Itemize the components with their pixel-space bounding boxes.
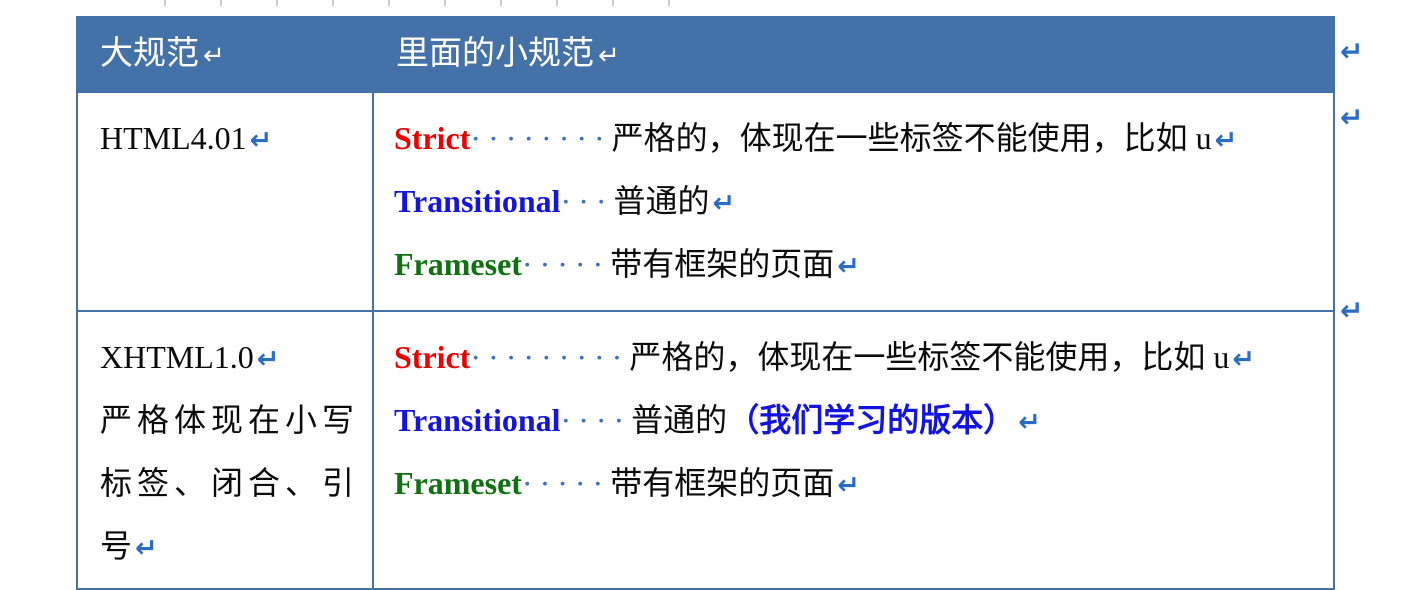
row-end-mark-icon: ↵ [1340, 38, 1363, 66]
spec-name-block: XHTML1.0↵ 严格体现在小写标签、闭合、引号↵ [78, 312, 372, 588]
sub-spec-line-strict: Strict········严格的，体现在一些标签不能使用，比如 u↵ [394, 107, 1323, 170]
header-label-minor: 里面的小规范↵ [374, 18, 1333, 91]
spec-name-block: HTML4.01↵ [78, 93, 372, 180]
sub-spec-description: 带有框架的页面 [610, 465, 834, 501]
sub-spec-highlight: （我们学习的版本） [727, 402, 1015, 438]
dot-leader: ········· [470, 339, 629, 375]
sub-spec-block: Strict········严格的，体现在一些标签不能使用，比如 u↵ Tran… [374, 93, 1333, 310]
document-page: ｜｜｜｜｜｜｜｜｜｜ 大规范↵ 里面的小规范↵ HTML4.01↵ [0, 0, 1406, 560]
dot-leader: ····· [522, 246, 610, 282]
spec-name-line: HTML4.01↵ [100, 107, 354, 170]
return-mark-icon: ↵ [1015, 407, 1041, 437]
header-text-major: 大规范 [100, 36, 199, 72]
sub-spec-description: 严格的，体现在一些标签不能使用，比如 u [612, 120, 1212, 156]
header-label-major: 大规范↵ [78, 18, 372, 91]
sub-spec-description: 严格的，体现在一些标签不能使用，比如 u [629, 339, 1229, 375]
return-mark-icon: ↵ [1229, 344, 1255, 374]
cell-spec-name-html4: HTML4.01↵ [77, 92, 373, 311]
spec-name-text: HTML4.01 [100, 120, 247, 156]
cut-off-text-above: ｜｜｜｜｜｜｜｜｜｜ [150, 0, 1300, 6]
return-mark-icon: ↵ [199, 40, 225, 70]
header-cell-minor-spec: 里面的小规范↵ [373, 17, 1334, 92]
return-mark-icon: ↵ [254, 344, 280, 374]
row-end-mark-icon: ↵ [1340, 104, 1363, 132]
return-mark-icon: ↵ [834, 470, 860, 500]
cell-sub-specs-xhtml1: Strict·········严格的，体现在一些标签不能使用，比如 u↵ Tra… [373, 311, 1334, 589]
sub-spec-description: 普通的 [631, 402, 727, 438]
return-mark-icon: ↵ [1212, 125, 1238, 155]
table-row: XHTML1.0↵ 严格体现在小写标签、闭合、引号↵ Strict·······… [77, 311, 1334, 589]
header-text-minor: 里面的小规范 [396, 36, 594, 72]
sub-spec-line-frameset: Frameset·····带有框架的页面↵ [394, 452, 1323, 515]
keyword-transitional: Transitional [394, 402, 561, 438]
table-header-row: 大规范↵ 里面的小规范↵ [77, 17, 1334, 92]
dot-leader: ···· [561, 402, 632, 438]
cell-spec-name-xhtml1: XHTML1.0↵ 严格体现在小写标签、闭合、引号↵ [77, 311, 373, 589]
header-cell-major-spec: 大规范↵ [77, 17, 373, 92]
keyword-frameset: Frameset [394, 246, 522, 282]
dot-leader: ····· [522, 465, 610, 501]
keyword-transitional: Transitional [394, 183, 561, 219]
spec-note-line: 严格体现在小写标签、闭合、引号↵ [100, 389, 354, 578]
sub-spec-description: 带有框架的页面 [610, 246, 834, 282]
keyword-frameset: Frameset [394, 465, 522, 501]
return-mark-icon: ↵ [132, 533, 158, 563]
spec-name-text: XHTML1.0 [100, 339, 254, 375]
dot-leader: ········ [470, 120, 611, 156]
specification-table: 大规范↵ 里面的小规范↵ HTML4.01↵ Strict········严格的… [76, 16, 1335, 590]
keyword-strict: Strict [394, 339, 470, 375]
return-mark-icon: ↵ [247, 125, 273, 155]
spec-name-line: XHTML1.0↵ [100, 326, 354, 389]
sub-spec-description: 普通的 [614, 183, 710, 219]
sub-spec-line-transitional: Transitional···普通的↵ [394, 170, 1323, 233]
return-mark-icon: ↵ [710, 188, 736, 218]
cell-sub-specs-html4: Strict········严格的，体现在一些标签不能使用，比如 u↵ Tran… [373, 92, 1334, 311]
sub-spec-block: Strict·········严格的，体现在一些标签不能使用，比如 u↵ Tra… [374, 312, 1333, 529]
sub-spec-line-transitional: Transitional····普通的（我们学习的版本）↵ [394, 389, 1323, 452]
row-end-mark-icon: ↵ [1340, 297, 1363, 325]
dot-leader: ··· [561, 183, 614, 219]
return-mark-icon: ↵ [594, 40, 620, 70]
return-mark-icon: ↵ [834, 251, 860, 281]
sub-spec-line-strict: Strict·········严格的，体现在一些标签不能使用，比如 u↵ [394, 326, 1323, 389]
keyword-strict: Strict [394, 120, 470, 156]
table-row: HTML4.01↵ Strict········严格的，体现在一些标签不能使用，… [77, 92, 1334, 311]
sub-spec-line-frameset: Frameset·····带有框架的页面↵ [394, 233, 1323, 296]
